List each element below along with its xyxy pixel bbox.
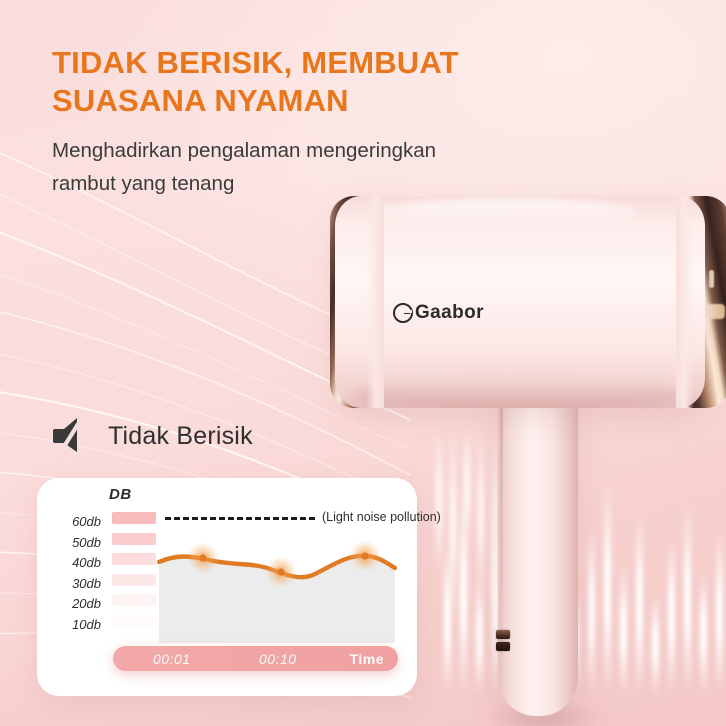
level-swatch (112, 553, 156, 565)
y-tick: 40db (37, 553, 109, 574)
chart-level-swatches (112, 512, 156, 635)
legend-label: (Light noise pollution) (322, 510, 441, 524)
chart-y-axis-labels: 60db 50db 40db 30db 20db 10db (37, 512, 109, 635)
chart-data-point (361, 552, 368, 559)
promo-banner: TIDAK BERISIK, MEMBUAT SUASANA NYAMAN Me… (0, 0, 726, 726)
brand-logo: Gaabor (393, 302, 484, 324)
level-swatch (112, 594, 156, 606)
feature-callout: Tidak Berisik (50, 415, 253, 457)
gaabor-g-mark-icon (393, 303, 413, 323)
brand-name: Gaabor (415, 302, 484, 324)
threshold-dashed-line (165, 517, 315, 520)
level-swatch (112, 574, 156, 586)
time-axis-name: Time (350, 651, 384, 667)
time-tick: 00:10 (259, 651, 297, 667)
dryer-control-button-upper[interactable] (496, 630, 510, 654)
dryer-handle-seam (500, 398, 503, 708)
level-swatch (112, 615, 156, 627)
muted-speaker-icon (50, 415, 94, 457)
dryer-handle (498, 398, 578, 716)
y-tick: 30db (37, 574, 109, 595)
headline-line-1: TIDAK BERISIK, MEMBUAT (52, 45, 459, 80)
level-swatch (112, 512, 156, 524)
y-tick: 50db (37, 533, 109, 554)
chart-time-axis: 00:01 00:10 Time (113, 646, 398, 671)
level-swatch (112, 533, 156, 545)
y-tick: 60db (37, 512, 109, 533)
chart-data-point (199, 554, 206, 561)
headline-line-2: SUASANA NYAMAN (52, 82, 572, 120)
headline: TIDAK BERISIK, MEMBUAT SUASANA NYAMAN (52, 44, 572, 120)
y-tick: 20db (37, 594, 109, 615)
noise-chart-card: DB 60db 50db 40db 30db 20db 10db (Light … (37, 478, 417, 696)
feature-label: Tidak Berisik (108, 422, 253, 451)
time-tick: 00:01 (153, 651, 191, 667)
y-tick: 10db (37, 615, 109, 636)
dryer-barrel: Gaabor (335, 196, 705, 408)
chart-data-point (277, 568, 284, 575)
chart-plot-area (157, 540, 397, 645)
chart-y-axis-title: DB (109, 486, 132, 503)
subheadline-line-1: Menghadirkan pengalaman mengeringkan (52, 134, 582, 167)
